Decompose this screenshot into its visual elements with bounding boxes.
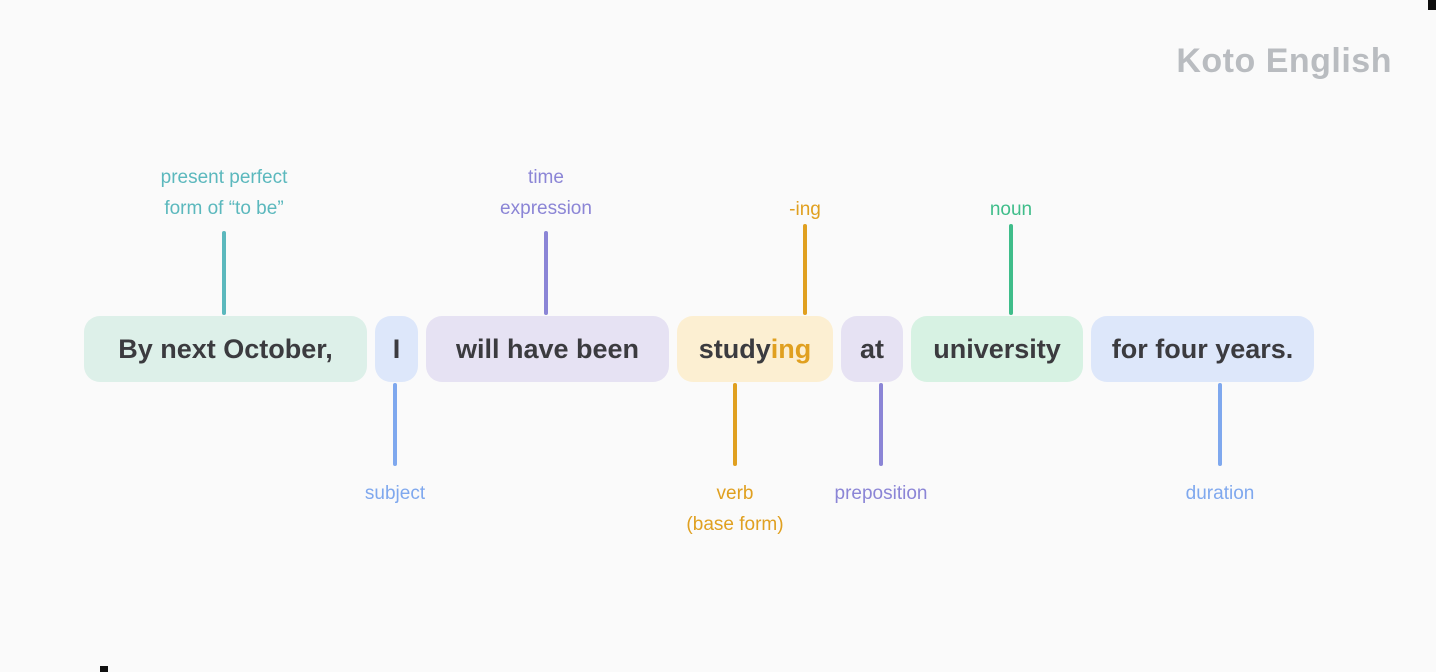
corner-artifact-bottom-left xyxy=(100,666,108,672)
sentence-chunk-i: I xyxy=(375,316,418,382)
annotation-label-present-perfect: present perfect form of “to be” xyxy=(161,162,288,225)
annotation-label-preposition: preposition xyxy=(835,478,928,509)
corner-artifact-top-right xyxy=(1428,0,1436,10)
brand-logo: Koto English xyxy=(1176,42,1392,81)
connector-stem-present-perfect xyxy=(222,231,226,315)
annotation-label-noun: noun xyxy=(990,194,1032,225)
connector-stem-verb-base-form xyxy=(733,383,737,466)
chunk-text: university xyxy=(933,334,1061,365)
chunk-suffix: ing xyxy=(771,334,812,365)
connector-stem-subject xyxy=(393,383,397,466)
chunk-text: at xyxy=(860,334,884,365)
chunk-text: By next October, xyxy=(118,334,333,365)
sentence-strip: By next October,Iwill have beenstudyinga… xyxy=(84,316,1314,382)
connector-stem-duration xyxy=(1218,383,1222,466)
sentence-chunk-by-next-october: By next October, xyxy=(84,316,367,382)
sentence-chunk-for-four-years: for four years. xyxy=(1091,316,1314,382)
annotation-label-subject: subject xyxy=(365,478,425,509)
sentence-chunk-university: university xyxy=(911,316,1083,382)
chunk-text: I xyxy=(393,334,401,365)
connector-stem-time-expression xyxy=(544,231,548,315)
annotation-label-verb-base-form: verb (base form) xyxy=(686,478,783,541)
connector-stem-preposition xyxy=(879,383,883,466)
annotation-label-time-expression: time expression xyxy=(500,162,592,225)
annotation-label-ing: -ing xyxy=(789,194,821,225)
chunk-text: for four years. xyxy=(1112,334,1294,365)
connector-stem-noun xyxy=(1009,224,1013,315)
sentence-structure-diagram: Koto English By next October,Iwill have … xyxy=(0,0,1436,672)
sentence-chunk-will-have-been: will have been xyxy=(426,316,669,382)
annotation-label-duration: duration xyxy=(1186,478,1255,509)
sentence-chunk-studying: studying xyxy=(677,316,833,382)
connector-stem-ing xyxy=(803,224,807,315)
chunk-text: will have been xyxy=(456,334,639,365)
chunk-text: study xyxy=(699,334,771,365)
sentence-chunk-at: at xyxy=(841,316,903,382)
